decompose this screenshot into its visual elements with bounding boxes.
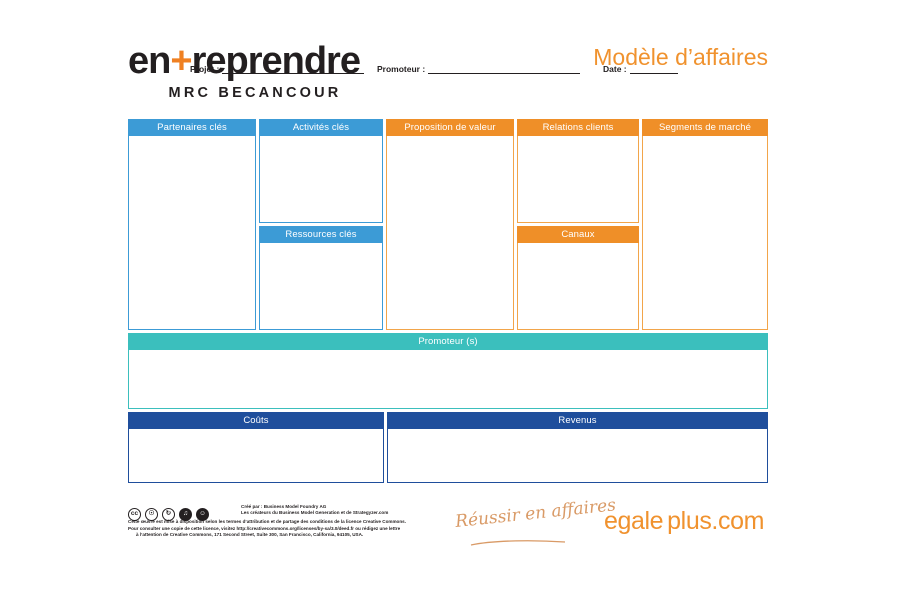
footer-credit-line2: Les créateurs du Business Model Generati… xyxy=(241,510,388,516)
block-body-proposition-de-valeur[interactable] xyxy=(386,136,514,330)
footer-legal: Cette œuvre est mise à disposition selon… xyxy=(128,519,406,539)
block-title-revenus: Revenus xyxy=(387,412,768,429)
egaleplus-brand[interactable]: egaleplus.com xyxy=(604,507,764,536)
block-canaux: Canaux xyxy=(517,226,639,330)
page-header: en+reprendre MRC BECANCOUR Modèle d’affa… xyxy=(128,42,768,112)
block-body-ressources-cles[interactable] xyxy=(259,243,383,330)
canvas-bottom-row: Coûts Revenus xyxy=(128,412,768,483)
field-date-input[interactable] xyxy=(630,64,678,74)
block-body-revenus[interactable] xyxy=(387,429,768,483)
block-body-activites-cles[interactable] xyxy=(259,136,383,223)
block-revenus: Revenus xyxy=(387,412,768,483)
form-fields-row: Projet : Promoteur : Date : xyxy=(190,58,768,74)
footer-legal-line1: Cette œuvre est mise à disposition selon… xyxy=(128,519,406,526)
field-promoteur-input[interactable] xyxy=(428,64,580,74)
block-relations-clients: Relations clients xyxy=(517,119,639,223)
block-activites-cles: Activités clés xyxy=(259,119,383,223)
block-body-couts[interactable] xyxy=(128,429,384,483)
field-projet[interactable]: Projet : xyxy=(190,64,364,74)
block-title-partenaires-cles: Partenaires clés xyxy=(128,119,256,136)
script-underline-flourish xyxy=(470,534,566,542)
block-segments-de-marche: Segments de marché xyxy=(642,119,768,330)
block-body-relations-clients[interactable] xyxy=(517,136,639,223)
logo-text-pre: en xyxy=(128,40,170,82)
column-activites: Activités clés Ressources clés xyxy=(259,119,383,330)
field-date[interactable]: Date : xyxy=(603,64,678,74)
plus-icon: + xyxy=(170,40,191,82)
block-title-proposition-de-valeur: Proposition de valeur xyxy=(386,119,514,136)
brand-part2: plus.com xyxy=(667,507,764,535)
brand-part1: egale xyxy=(604,507,663,535)
block-title-canaux: Canaux xyxy=(517,226,639,243)
block-ressources-cles: Ressources clés xyxy=(259,226,383,330)
block-title-segments-de-marche: Segments de marché xyxy=(642,119,768,136)
block-title-relations-clients: Relations clients xyxy=(517,119,639,136)
block-couts: Coûts xyxy=(128,412,384,483)
field-promoteur-label: Promoteur : xyxy=(377,64,428,74)
block-proposition-de-valeur: Proposition de valeur xyxy=(386,119,514,330)
canvas-grid: Partenaires clés Activités clés Ressourc… xyxy=(128,119,768,483)
logo-subtitle: MRC BECANCOUR xyxy=(128,85,388,101)
business-model-canvas-page: en+reprendre MRC BECANCOUR Modèle d’affa… xyxy=(0,0,900,600)
block-promoteur: Promoteur (s) xyxy=(128,333,768,409)
field-projet-input[interactable] xyxy=(222,64,364,74)
block-title-couts: Coûts xyxy=(128,412,384,429)
block-title-ressources-cles: Ressources clés xyxy=(259,226,383,243)
footer-legal-line3: à l’attention de Creative Commons, 171 S… xyxy=(128,532,406,539)
block-title-activites-cles: Activités clés xyxy=(259,119,383,136)
footer-legal-line2: Pour consulter une copie de cette licenc… xyxy=(128,526,406,533)
canvas-top-row: Partenaires clés Activités clés Ressourc… xyxy=(128,119,768,330)
block-body-segments-de-marche[interactable] xyxy=(642,136,768,330)
block-body-promoteur[interactable] xyxy=(128,350,768,409)
block-partenaires-cles: Partenaires clés xyxy=(128,119,256,330)
block-body-canaux[interactable] xyxy=(517,243,639,330)
field-date-label: Date : xyxy=(603,64,630,74)
block-body-partenaires-cles[interactable] xyxy=(128,136,256,330)
column-relations: Relations clients Canaux xyxy=(517,119,639,330)
column-segments: Segments de marché xyxy=(642,119,768,330)
block-title-promoteur: Promoteur (s) xyxy=(128,333,768,350)
column-proposition: Proposition de valeur xyxy=(386,119,514,330)
footer-credit: Créé par : Business Model Foundry AG Les… xyxy=(241,504,388,517)
field-projet-label: Projet : xyxy=(190,64,222,74)
column-partenaires: Partenaires clés xyxy=(128,119,256,330)
field-promoteur[interactable]: Promoteur : xyxy=(377,64,580,74)
